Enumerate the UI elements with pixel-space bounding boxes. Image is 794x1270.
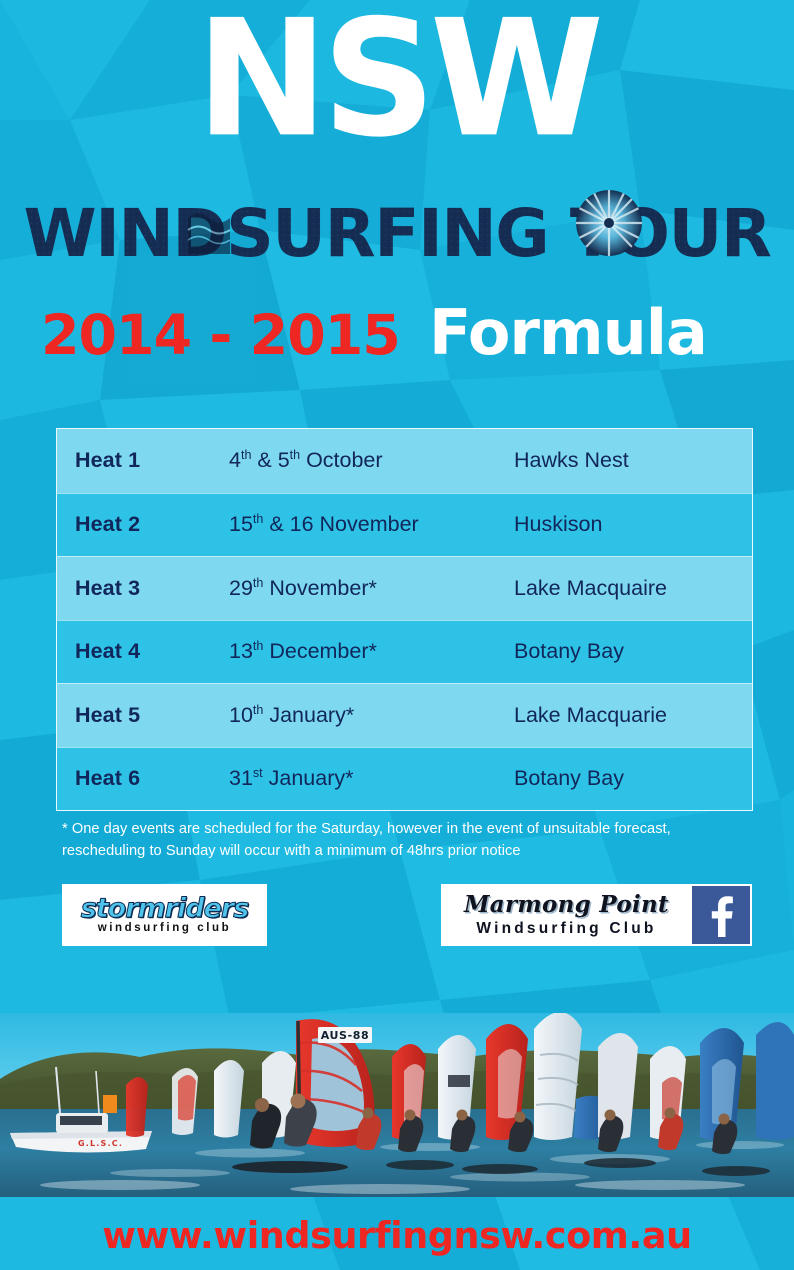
nsw-text: NSW [196, 14, 600, 154]
class-text: Formula [429, 296, 707, 369]
season-class-block: 2014 - 2015 Formula [0, 292, 794, 372]
heat-label: Heat 3 [57, 576, 229, 601]
marmong-text-block: Marmong Point Windsurfing Club [443, 886, 690, 944]
nsw-wordmark: NSW [0, 14, 794, 154]
table-row: Heat 14th & 5th OctoberHawks Nest [57, 429, 752, 493]
table-row: Heat 329th November*Lake Macquaire [57, 556, 752, 620]
event-venue: Hawks Nest [514, 448, 752, 473]
event-date: 10th January* [229, 703, 514, 728]
event-date: 4th & 5th October [229, 448, 514, 473]
poster-canvas: NSW [0, 0, 794, 1270]
schedule-table: Heat 14th & 5th OctoberHawks NestHeat 21… [56, 428, 753, 811]
boat-marking: G.L.S.C. [78, 1139, 123, 1148]
event-date: 29th November* [229, 576, 514, 601]
heat-label: Heat 1 [57, 448, 229, 473]
event-venue: Lake Macquarie [514, 703, 752, 728]
facebook-icon[interactable] [690, 886, 750, 944]
table-row: Heat 413th December*Botany Bay [57, 620, 752, 684]
marmong-subtitle: Windsurfing Club [476, 920, 656, 937]
heat-label: Heat 5 [57, 703, 229, 728]
tour-title-wordmark: WINDSURFING TOUR [0, 168, 794, 278]
event-venue: Huskison [514, 512, 752, 537]
website-footer[interactable]: www.windsurfingnsw.com.au [0, 1200, 794, 1270]
sail-number: AUS-88 [321, 1029, 370, 1042]
season-text: 2014 - 2015 [41, 304, 400, 368]
sponsor-logo-stormriders[interactable]: stormriders windsurfing club [62, 884, 267, 946]
event-date: 13th December* [229, 639, 514, 664]
event-venue: Botany Bay [514, 766, 752, 791]
table-row: Heat 510th January*Lake Macquarie [57, 683, 752, 747]
heat-label: Heat 2 [57, 512, 229, 537]
schedule-footnote: * One day events are scheduled for the S… [62, 818, 752, 862]
heat-label: Heat 6 [57, 766, 229, 791]
table-row: Heat 215th & 16 NovemberHuskison [57, 493, 752, 557]
event-date: 15th & 16 November [229, 512, 514, 537]
race-photo: G.L.S.C. AUS-88 [0, 1013, 794, 1197]
palm-sunburst-decor [576, 190, 642, 256]
table-row: Heat 631st January*Botany Bay [57, 747, 752, 811]
event-venue: Botany Bay [514, 639, 752, 664]
sponsor-logo-marmong-point[interactable]: Marmong Point Windsurfing Club [441, 884, 752, 946]
stormriders-subtitle: windsurfing club [98, 923, 232, 935]
tour-title-text: WINDSURFING TOUR [24, 194, 771, 272]
event-venue: Lake Macquaire [514, 576, 752, 601]
stormriders-name: stormriders [81, 895, 249, 922]
website-url[interactable]: www.windsurfingnsw.com.au [102, 1214, 691, 1257]
marmong-name: Marmong Point [464, 893, 669, 917]
heat-label: Heat 4 [57, 639, 229, 664]
event-date: 31st January* [229, 766, 514, 791]
